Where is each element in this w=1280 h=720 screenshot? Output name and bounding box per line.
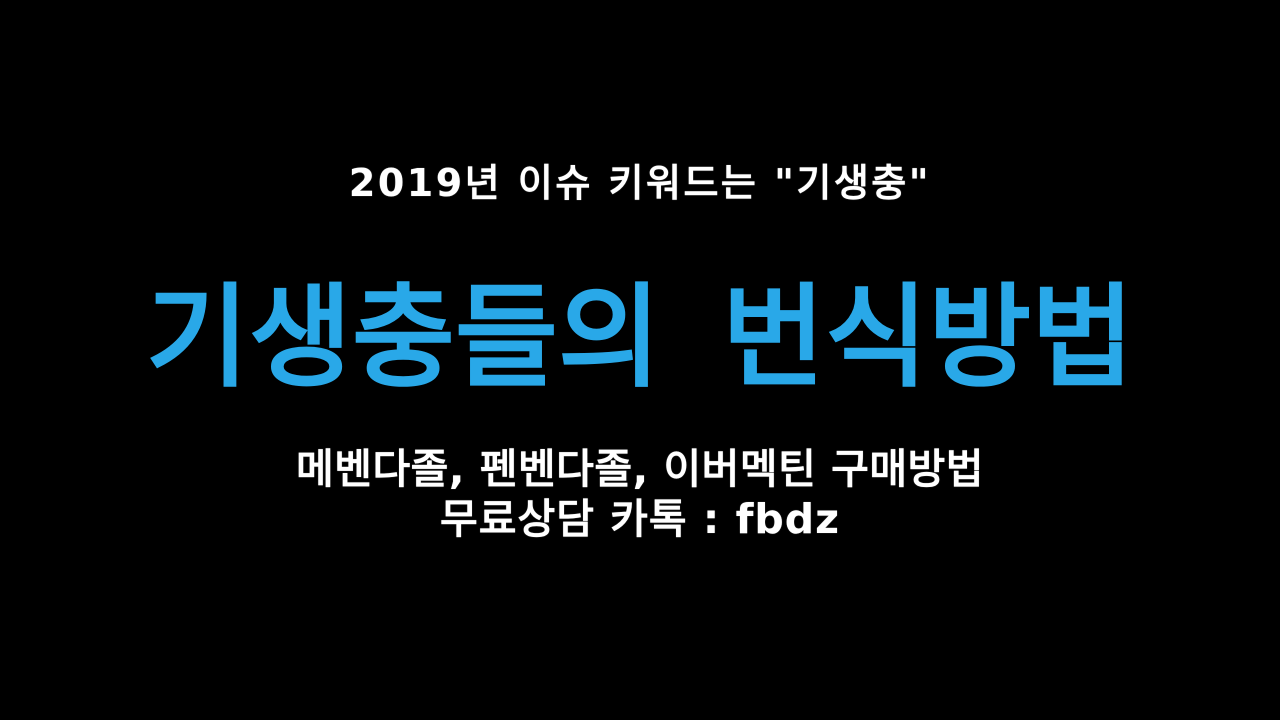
subtitle-block: 메벤다졸, 펜벤다졸, 이버멕틴 구매방법 무료상담 카톡 : fbdz	[0, 444, 1280, 544]
subtitle-line-products: 메벤다졸, 펜벤다졸, 이버멕틴 구매방법	[0, 444, 1280, 494]
title-card: 2019년 이슈 키워드는 "기생충" 기생충들의 번식방법 메벤다졸, 펜벤다…	[0, 0, 1280, 720]
kicker-text: 2019년 이슈 키워드는 "기생충"	[0, 158, 1280, 208]
main-headline: 기생충들의 번식방법	[0, 276, 1280, 400]
subtitle-line-contact: 무료상담 카톡 : fbdz	[0, 494, 1280, 544]
